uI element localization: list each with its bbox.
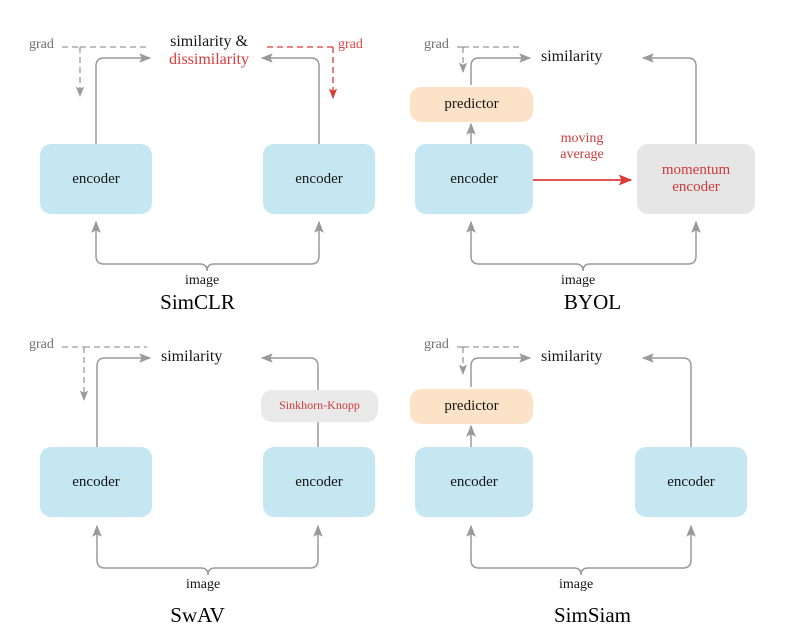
self-supervised-methods-figure: encoder encoder grad grad similarity & d… <box>0 0 790 636</box>
simsiam-encoder-left[interactable]: encoder <box>415 447 533 517</box>
simsiam-title: SimSiam <box>395 603 790 628</box>
simclr-encoder-left-label: encoder <box>72 171 119 188</box>
simsiam-forward-right <box>643 358 691 447</box>
panel-byol: predictor encoder momentum encoder grad … <box>395 0 790 318</box>
byol-predictor[interactable]: predictor <box>410 87 533 122</box>
byol-moving-line1: moving <box>561 131 604 146</box>
simsiam-image-brace <box>471 554 691 575</box>
simclr-grad-left-label: grad <box>29 37 54 53</box>
simclr-title: SimCLR <box>0 290 395 315</box>
simsiam-predictor-label: predictor <box>444 398 498 415</box>
byol-similarity-label: similarity <box>541 48 602 66</box>
swav-encoder-right-label: encoder <box>295 474 342 491</box>
simsiam-forward-left <box>471 358 530 387</box>
byol-image-brace <box>471 250 696 271</box>
swav-sinkhorn-label: Sinkhorn-Knopp <box>279 399 360 412</box>
swav-forward-right <box>262 358 318 390</box>
panel-simclr: encoder encoder grad grad similarity & d… <box>0 0 395 318</box>
simsiam-encoder-right-label: encoder <box>667 474 714 491</box>
simclr-image-label: image <box>185 273 219 289</box>
byol-moving-line2: average <box>560 147 604 162</box>
simclr-encoder-right[interactable]: encoder <box>263 144 375 214</box>
byol-encoder-left-label: encoder <box>450 171 497 188</box>
simclr-encoder-left[interactable]: encoder <box>40 144 152 214</box>
byol-moving-average-label: moving average <box>546 131 618 162</box>
byol-forward-left <box>471 58 530 85</box>
byol-momentum-label-line1: momentum <box>662 162 730 179</box>
simclr-similarity-text: similarity & <box>170 33 248 50</box>
simsiam-grad-label: grad <box>424 337 449 353</box>
simclr-dissimilarity-text: dissimilarity <box>160 51 258 69</box>
byol-title: BYOL <box>395 290 790 315</box>
simsiam-encoder-right[interactable]: encoder <box>635 447 747 517</box>
simclr-forward-left <box>96 58 150 144</box>
byol-grad-label: grad <box>424 37 449 53</box>
swav-encoder-left[interactable]: encoder <box>40 447 152 517</box>
swav-title: SwAV <box>0 603 395 628</box>
swav-encoder-left-label: encoder <box>72 474 119 491</box>
simsiam-predictor[interactable]: predictor <box>410 389 533 424</box>
simclr-image-brace <box>96 250 319 271</box>
simclr-grad-right-label: grad <box>338 37 363 53</box>
panel-simsiam: predictor encoder encoder grad similarit… <box>395 318 790 636</box>
byol-encoder-left[interactable]: encoder <box>415 144 533 214</box>
swav-encoder-right[interactable]: encoder <box>263 447 375 517</box>
simclr-objective-label: similarity & dissimilarity <box>160 33 258 69</box>
panel-swav: encoder Sinkhorn-Knopp encoder grad simi… <box>0 318 395 636</box>
byol-forward-right <box>643 58 696 144</box>
swav-image-label: image <box>186 577 220 593</box>
simsiam-image-label: image <box>559 577 593 593</box>
swav-image-brace <box>97 554 318 575</box>
swav-sinkhorn-knopp[interactable]: Sinkhorn-Knopp <box>261 390 378 422</box>
simclr-forward-right <box>262 58 319 144</box>
byol-image-label: image <box>561 273 595 289</box>
byol-momentum-encoder[interactable]: momentum encoder <box>637 144 755 214</box>
byol-predictor-label: predictor <box>444 96 498 113</box>
swav-grad-label: grad <box>29 337 54 353</box>
swav-forward-left <box>97 358 150 447</box>
byol-momentum-label-line2: encoder <box>672 179 719 196</box>
swav-similarity-label: similarity <box>161 348 222 366</box>
simsiam-similarity-label: similarity <box>541 348 602 366</box>
simclr-encoder-right-label: encoder <box>295 171 342 188</box>
simsiam-encoder-left-label: encoder <box>450 474 497 491</box>
